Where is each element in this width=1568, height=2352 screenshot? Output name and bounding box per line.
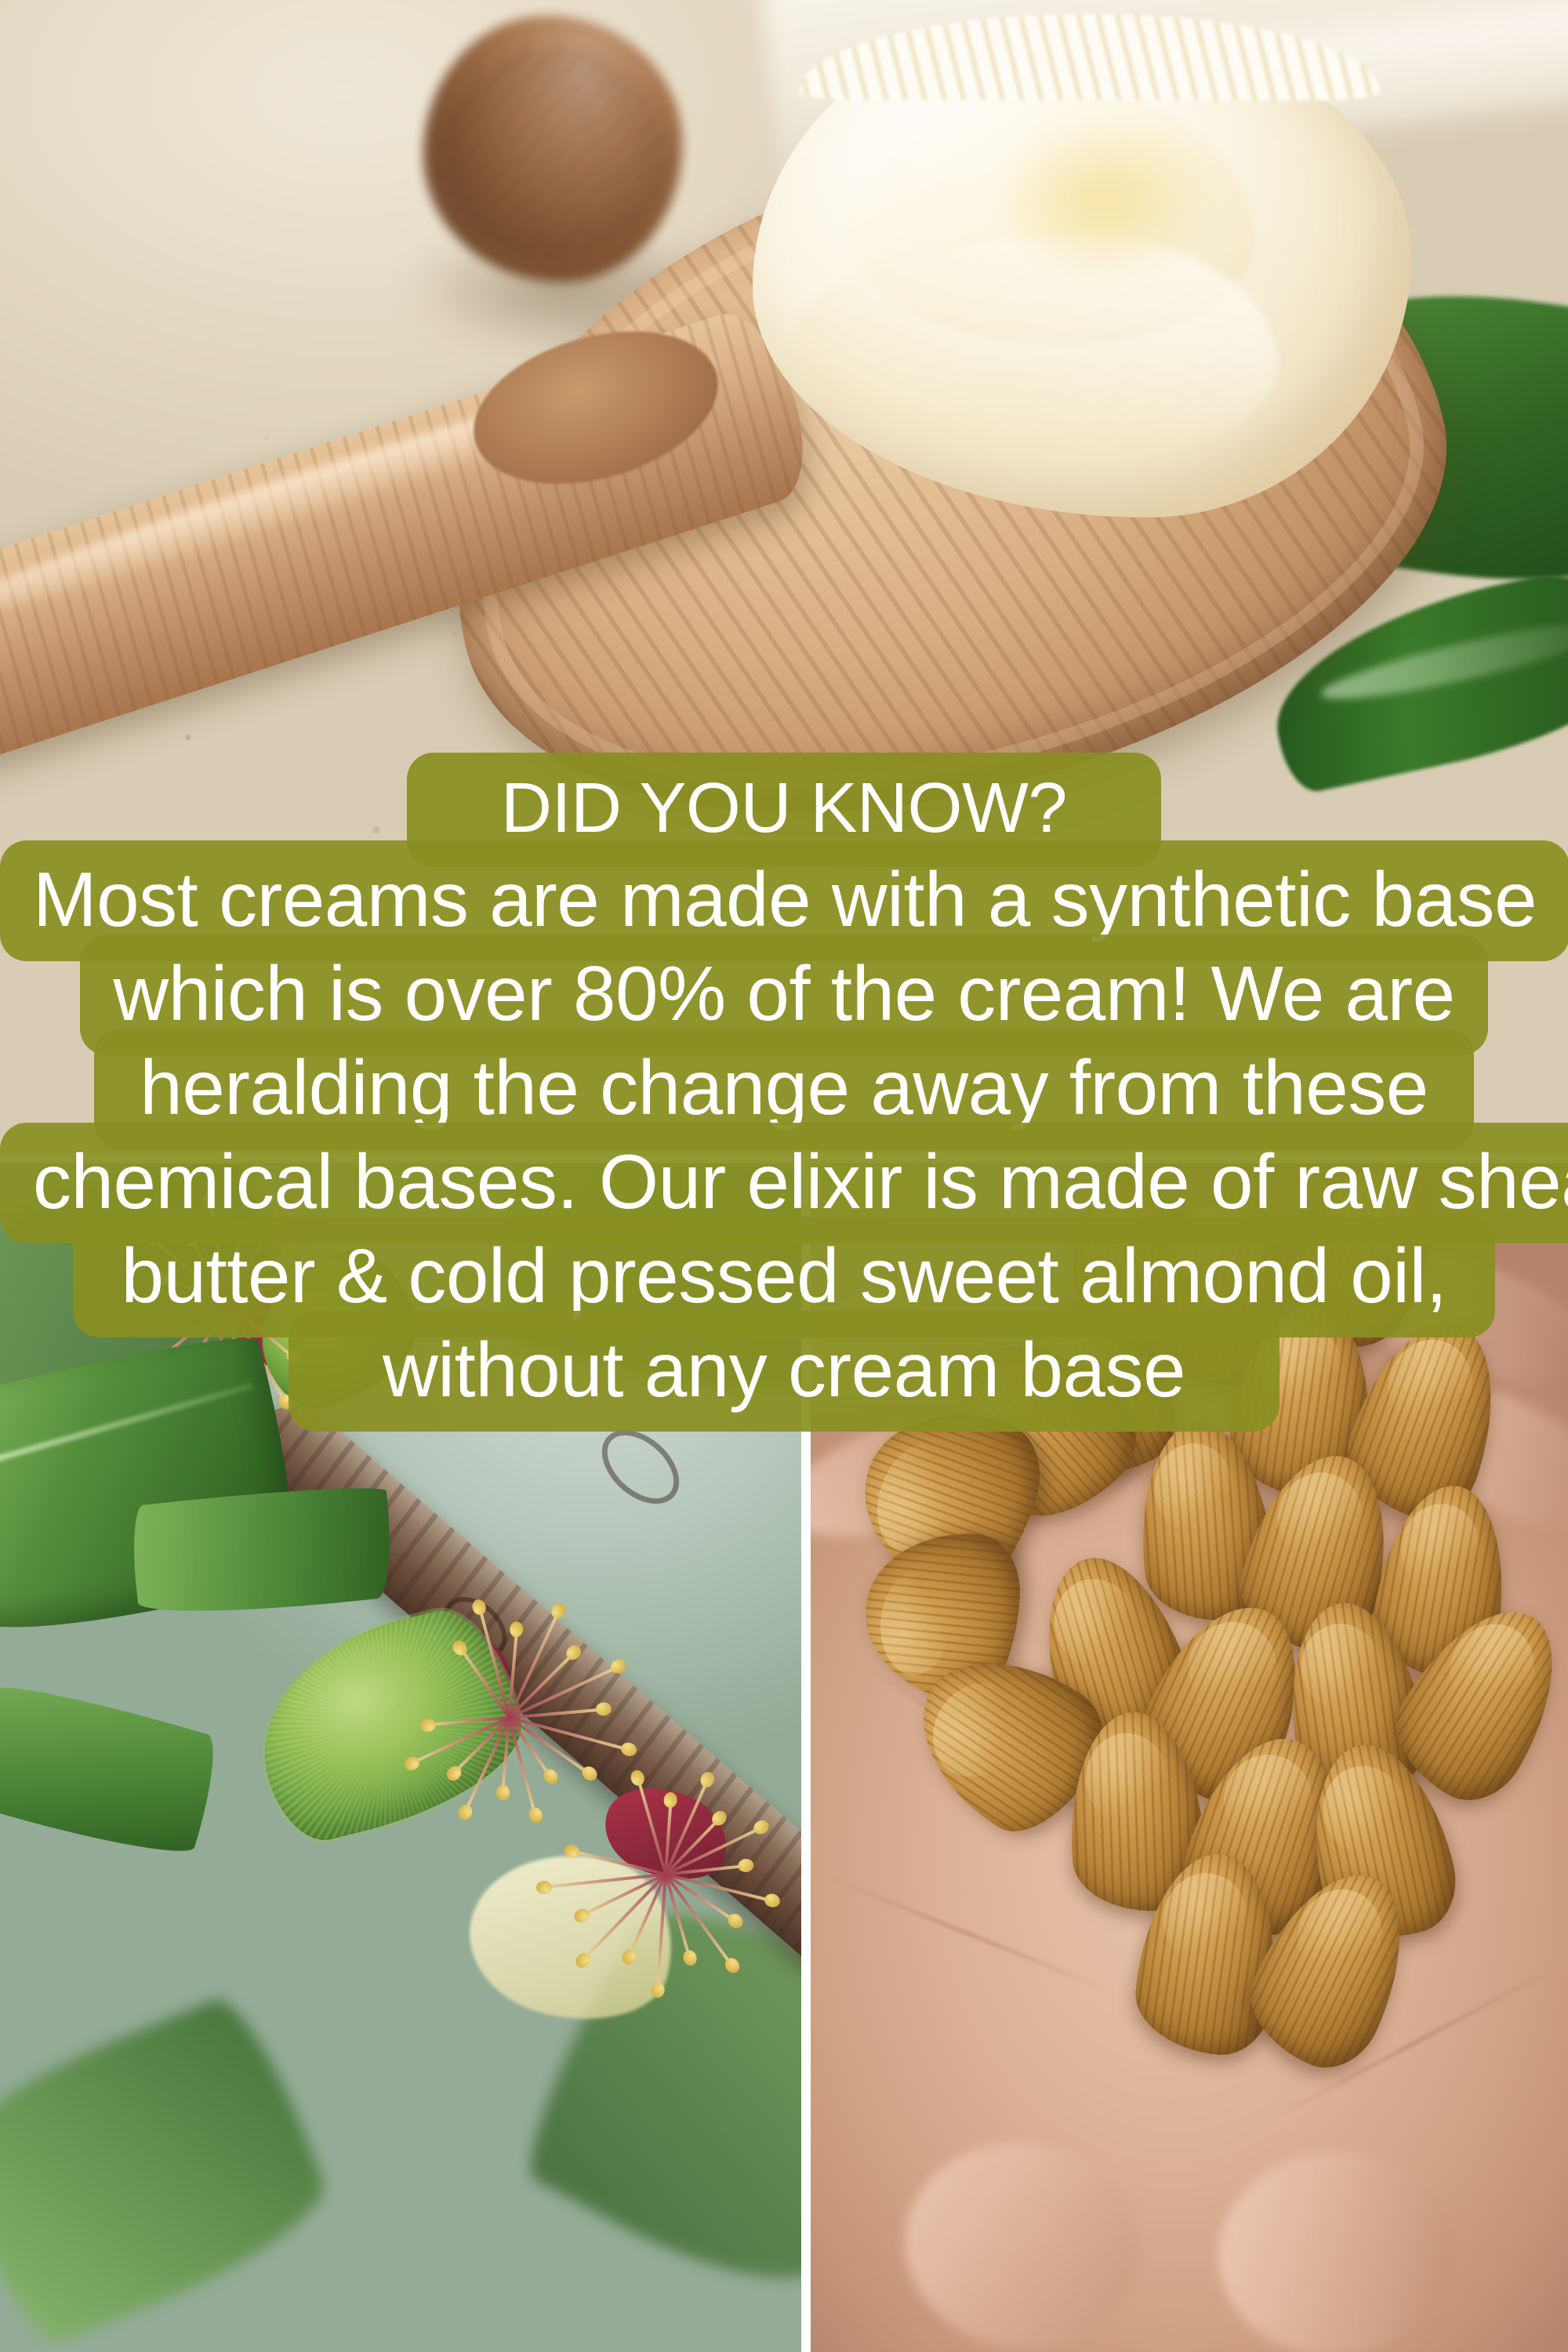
blossom-stamen bbox=[227, 1301, 334, 1342]
photo-almonds-in-palm bbox=[811, 1163, 1568, 2352]
photo-almond-blossom-branch bbox=[0, 1163, 801, 2352]
blossom-stamen bbox=[478, 1606, 511, 1718]
blossom-stamen bbox=[161, 1276, 228, 1304]
divider-vertical bbox=[801, 1163, 811, 2352]
blossom-stamen bbox=[637, 1777, 667, 1875]
blossom-stamen bbox=[665, 1817, 721, 1875]
blossom-stamen bbox=[459, 1646, 510, 1719]
blossom-stamen bbox=[508, 1652, 575, 1719]
shea-nut-texture bbox=[439, 47, 666, 259]
poster: DID YOU KNOW? Most creams are made with … bbox=[0, 0, 1568, 2352]
photo-shea-butter-spoon bbox=[0, 0, 1568, 1152]
blossom-stamen bbox=[227, 1301, 310, 1304]
blossom-stamen bbox=[452, 1716, 510, 1774]
blossom-stamen bbox=[572, 1849, 666, 1876]
divider-horizontal bbox=[0, 1152, 1568, 1163]
background-green-patch bbox=[811, 1163, 952, 1258]
blossom-stamen bbox=[582, 1873, 666, 1961]
